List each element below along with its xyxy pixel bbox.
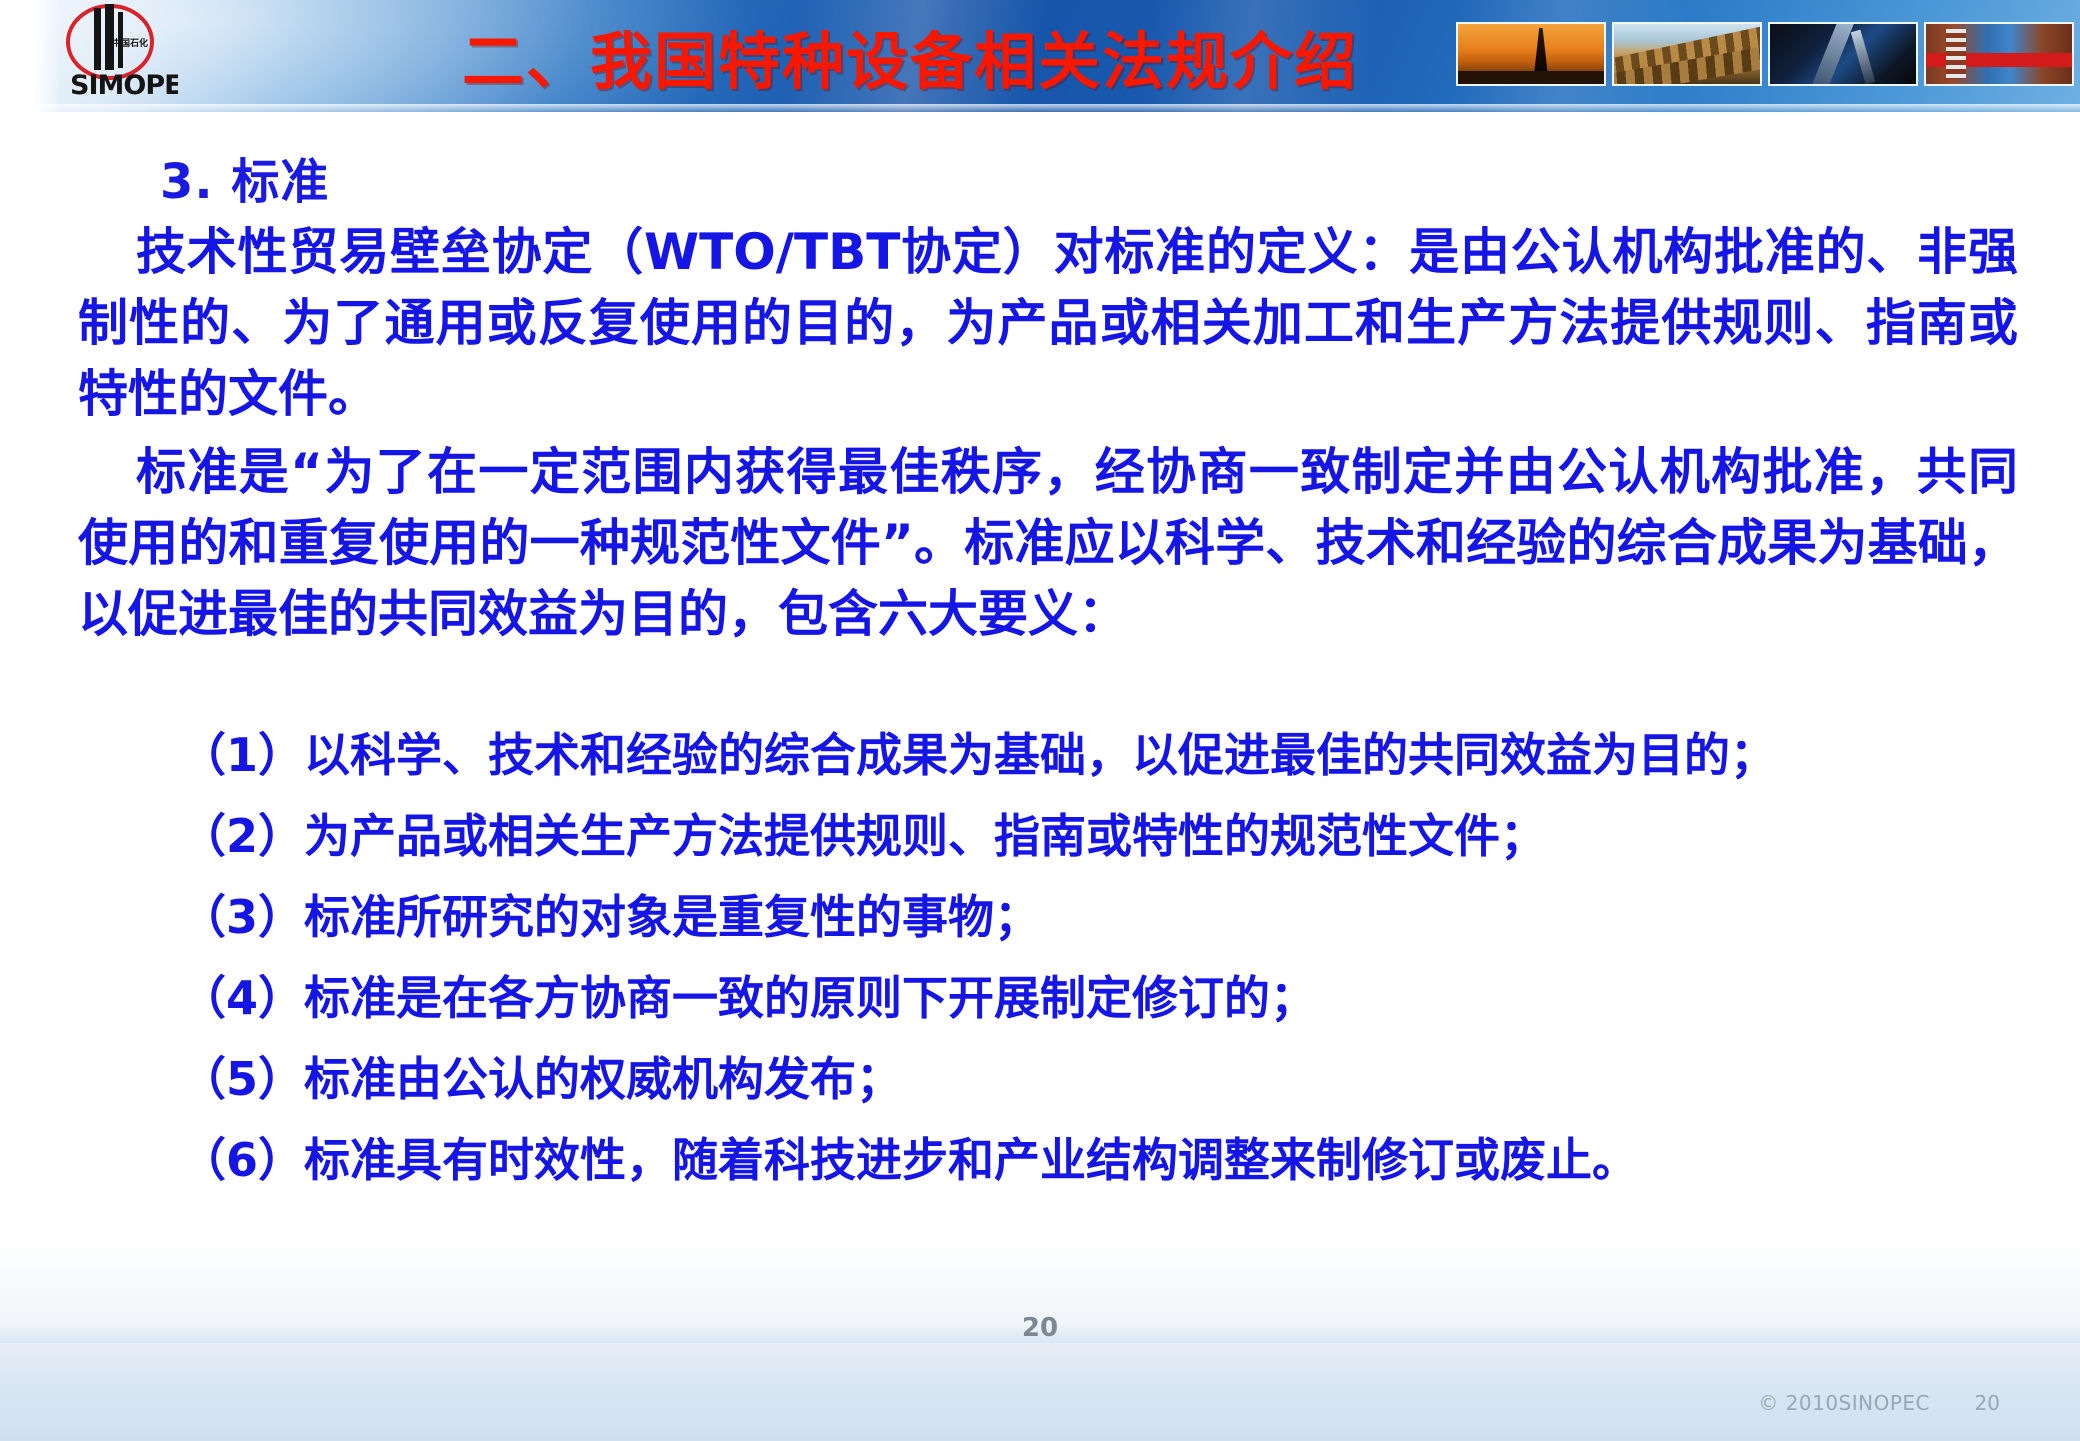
industrial-pipeline-photo: [1612, 22, 1762, 86]
slide-body: 3. 标准 技术性贸易壁垒协定（WTO/TBT协定）对标准的定义：是由公认机构批…: [0, 112, 2080, 1342]
section-heading: 3. 标准: [160, 142, 329, 212]
sinopec-logo: 中国石化 SIMOPEC: [48, 2, 178, 107]
slide-footer: 20 © 2010SINOPEC 20: [0, 1340, 2080, 1441]
list-item: （1）以科学、技术和经验的综合成果为基础，以促进最佳的共同效益为目的；: [180, 715, 2040, 796]
svg-text:中国石化: 中国石化: [112, 37, 148, 49]
oil-derrick-sunset-photo: [1456, 22, 1606, 86]
list-item: （5）标准由公认的权威机构发布；: [180, 1039, 2040, 1120]
page-number-center: 20: [0, 1313, 2080, 1343]
paragraph-standard-definition: 技术性贸易壁垒协定（WTO/TBT协定）对标准的定义：是由公认机构批准的、非强制…: [78, 217, 2018, 430]
list-item: （2）为产品或相关生产方法提供规则、指南或特性的规范性文件；: [180, 796, 2040, 877]
page-title: 二、我国特种设备相关法规介绍: [360, 8, 1460, 104]
list-item: （6）标准具有时效性，随着科技进步和产业结构调整来制修订或废止。: [180, 1120, 2040, 1201]
copyright-text: © 2010SINOPEC: [1758, 1391, 1930, 1415]
plant-structure-photo: [1924, 22, 2074, 86]
list-item: （3）标准所研究的对象是重复性的事物；: [180, 877, 2040, 958]
header-thumbnail-strip: [1456, 22, 2074, 86]
page-number-right: 20: [1975, 1391, 2000, 1415]
slide-header-bar: 二、我国特种设备相关法规介绍: [0, 0, 2080, 112]
six-essentials-list: （1）以科学、技术和经验的综合成果为基础，以促进最佳的共同效益为目的； （2）为…: [180, 715, 2040, 1201]
paragraph-standard-meaning: 标准是“为了在一定范围内获得最佳秩序，经协商一致制定并由公认机构批准，共同使用的…: [78, 437, 2018, 650]
list-item: （4）标准是在各方协商一致的原则下开展制定修订的；: [180, 958, 2040, 1039]
svg-text:SIMOPEC: SIMOPEC: [70, 70, 178, 101]
header-bottom-edge: [0, 104, 2080, 112]
machinery-closeup-photo: [1768, 22, 1918, 86]
slide-canvas: 二、我国特种设备相关法规介绍 中国石化 SIMOPEC 3. 标准 技术性贸易壁…: [0, 0, 2080, 1440]
